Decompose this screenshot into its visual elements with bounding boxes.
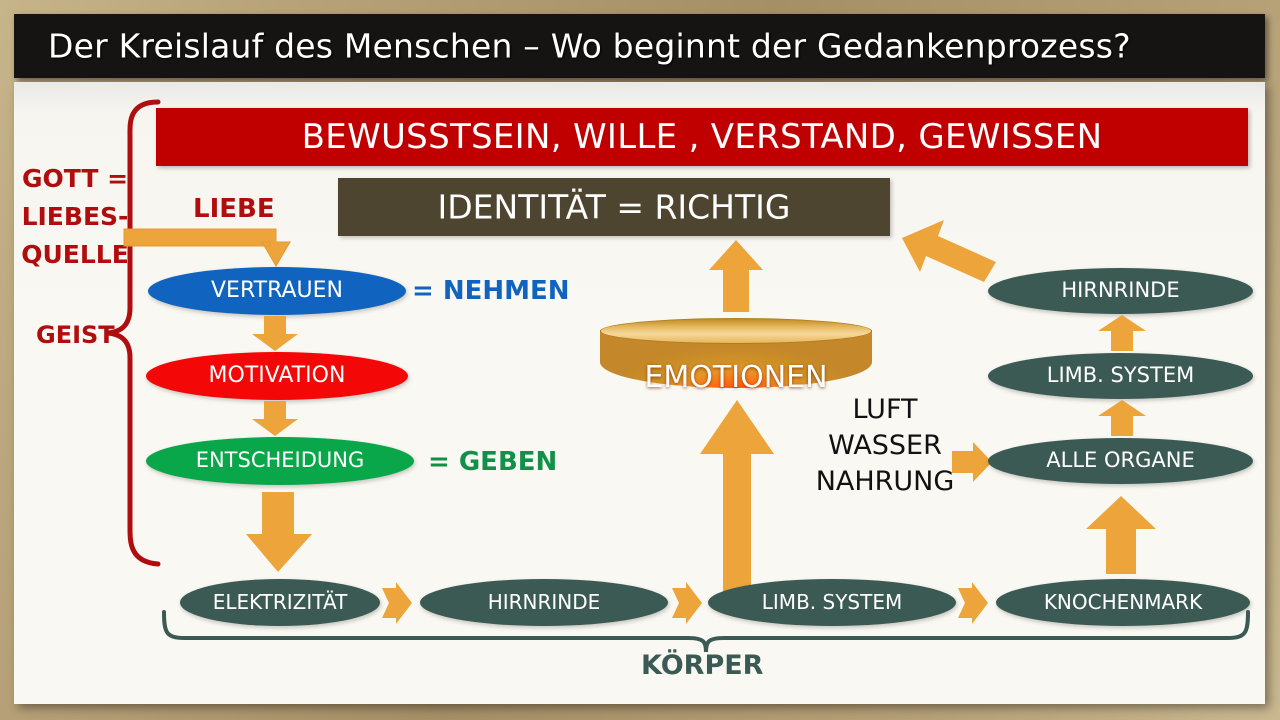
geben-label: = GEBEN [428, 447, 557, 477]
node-bottom-elektrizitaet-label: ELEKTRIZITÄT [213, 590, 348, 614]
god-label-line-1: GOTT = [14, 160, 136, 198]
slide-canvas: Der Kreislauf des Menschen – Wo beginnt … [0, 0, 1280, 720]
arrow-up-limb-hirnrinde-icon [1098, 315, 1146, 353]
page-title: Der Kreislauf des Menschen – Wo beginnt … [48, 27, 1131, 66]
cylinder-top-ellipse [600, 318, 872, 344]
consciousness-banner-label: BEWUSSTSEIN, WILLE , VERSTAND, GEWISSEN [156, 117, 1248, 157]
god-label-line-2: LIEBES- [14, 198, 136, 236]
node-bottom-limbsystem-label: LIMB. SYSTEM [762, 590, 902, 614]
node-vertrauen-label: VERTRAUEN [211, 278, 343, 303]
node-vertrauen[interactable]: VERTRAUEN [148, 267, 406, 315]
liebe-label: LIEBE [193, 194, 275, 224]
node-right-hirnrinde-label: HIRNRINDE [1061, 278, 1179, 302]
inputs-line-1: LUFT [812, 392, 958, 428]
god-love-source-label: GOTT = LIEBES- QUELLE [14, 160, 136, 274]
node-entscheidung-label: ENTSCHEIDUNG [196, 448, 365, 472]
emotionen-cylinder[interactable]: EMOTIONEN [600, 318, 872, 394]
arrow-up-emotionen-identitaet-icon [709, 240, 765, 314]
node-right-limbsystem[interactable]: LIMB. SYSTEM [988, 353, 1253, 399]
node-bottom-hirnrinde-label: HIRNRINDE [488, 590, 601, 614]
node-right-hirnrinde[interactable]: HIRNRINDE [988, 268, 1253, 314]
arrow-up-knochenmark-organe-icon [1086, 496, 1156, 576]
god-label-line-3: QUELLE [14, 236, 136, 274]
node-bottom-knochenmark-label: KNOCHENMARK [1044, 590, 1202, 614]
koerper-label: KÖRPER [641, 650, 763, 681]
inputs-label: LUFT WASSER NAHRUNG [812, 392, 958, 500]
arrow-up-organe-limb-icon [1098, 400, 1146, 438]
node-right-alleorgane[interactable]: ALLE ORGANE [988, 438, 1253, 484]
node-right-limbsystem-label: LIMB. SYSTEM [1047, 363, 1194, 387]
liebe-elbow-arrow-icon [122, 226, 302, 272]
arrow-down-entscheidung-elektrizitaet-icon [246, 492, 316, 574]
node-entscheidung[interactable]: ENTSCHEIDUNG [146, 437, 414, 485]
node-motivation[interactable]: MOTIVATION [146, 352, 408, 400]
identity-box: IDENTITÄT = RICHTIG [338, 178, 890, 236]
arrow-down-motivation-entscheidung-icon [252, 401, 302, 437]
koerper-brace [160, 612, 1252, 654]
emotionen-label: EMOTIONEN [600, 360, 872, 395]
arrow-diagonal-hirnrinde-identitaet-icon [896, 220, 1000, 284]
inputs-line-2: WASSER [812, 428, 958, 464]
nehmen-label: = NEHMEN [412, 276, 570, 306]
arrow-right-inputs-organe-icon [952, 442, 992, 482]
node-right-alleorgane-label: ALLE ORGANE [1046, 448, 1194, 472]
inputs-line-3: NAHRUNG [812, 464, 958, 500]
node-motivation-label: MOTIVATION [209, 363, 346, 388]
geist-label: GEIST [36, 321, 115, 349]
arrow-up-limbsystem-emotionen-icon [700, 400, 774, 600]
arrow-down-vertrauen-motivation-icon [252, 316, 302, 352]
identity-box-label: IDENTITÄT = RICHTIG [338, 188, 890, 227]
title-bar: Der Kreislauf des Menschen – Wo beginnt … [14, 14, 1265, 78]
consciousness-banner: BEWUSSTSEIN, WILLE , VERSTAND, GEWISSEN [156, 108, 1248, 166]
